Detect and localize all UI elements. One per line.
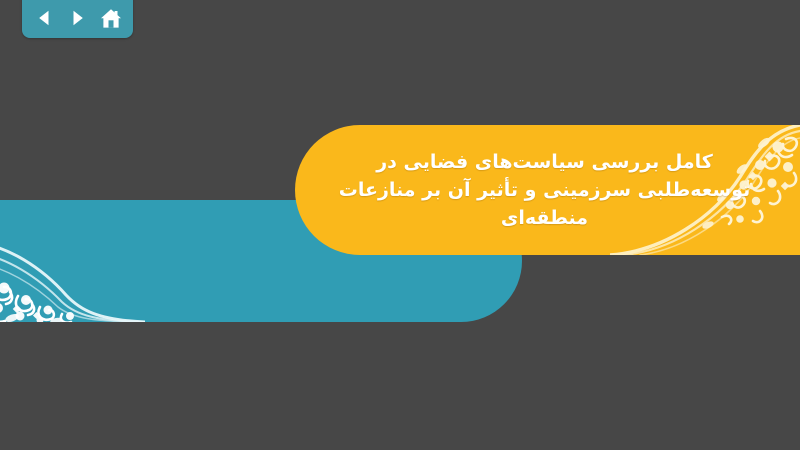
- orange-title-shape: [295, 125, 800, 255]
- forward-button[interactable]: [65, 5, 91, 31]
- home-button[interactable]: [98, 5, 124, 31]
- arabesque-ornament-icon: [610, 125, 800, 255]
- arabesque-ornament-icon: [0, 200, 145, 322]
- back-button[interactable]: [31, 5, 57, 31]
- back-arrow-icon: [34, 8, 54, 28]
- slide-canvas: کامل بررسی سیاست‌های فضایی در توسعه‌طلبی…: [0, 0, 800, 450]
- navigation-bar: [22, 0, 133, 38]
- home-icon: [100, 8, 122, 29]
- forward-arrow-icon: [68, 8, 88, 28]
